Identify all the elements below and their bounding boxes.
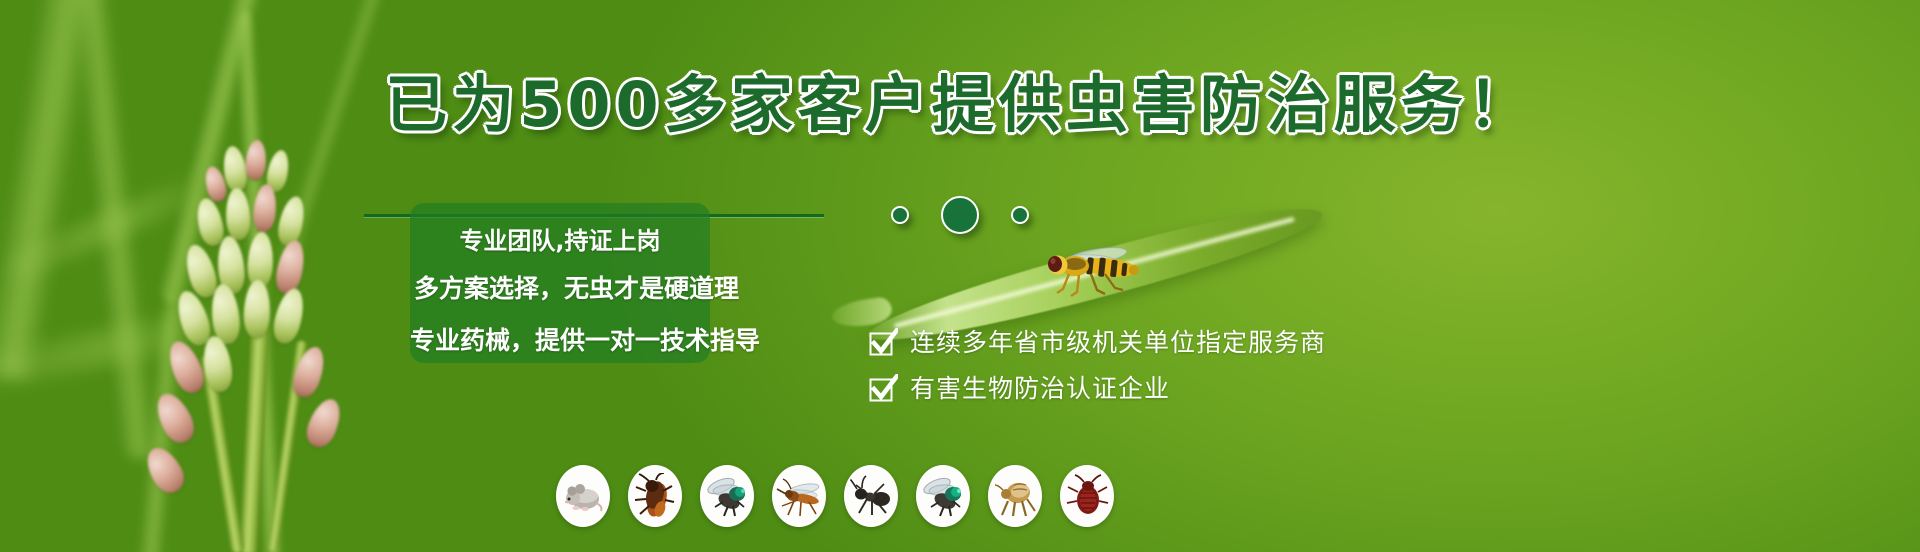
pest-icon-ant[interactable] bbox=[844, 465, 898, 527]
pest-icon-mouse[interactable] bbox=[556, 465, 610, 527]
mosquito-icon bbox=[776, 473, 822, 519]
decorative-dot-small-left bbox=[891, 206, 909, 224]
pest-icon-greenbottle-fly[interactable] bbox=[916, 465, 970, 527]
credential-item: 连续多年省市级机关单位指定服务商 bbox=[868, 328, 1326, 358]
cockroach-icon bbox=[632, 473, 678, 519]
bedbug-icon bbox=[1064, 473, 1110, 519]
credentials-list: 连续多年省市级机关单位指定服务商 有害生物防治认证企业 bbox=[868, 328, 1326, 404]
greenbottle-fly-icon bbox=[920, 473, 966, 519]
banner-headline: 已为500多家客户提供虫害防治服务！ bbox=[0, 74, 1920, 136]
selling-point-line-2: 多方案选择，无虫才是硬道理 bbox=[414, 263, 710, 315]
credential-label: 有害生物防治认证企业 bbox=[910, 374, 1170, 404]
hoverfly-image bbox=[1035, 240, 1155, 304]
mouse-icon bbox=[560, 473, 606, 519]
decorative-dot-large-center bbox=[941, 196, 979, 234]
pest-icon-housefly[interactable] bbox=[700, 465, 754, 527]
decorative-dot-small-right bbox=[1011, 206, 1029, 224]
promotional-banner: 已为500多家客户提供虫害防治服务！ 专业团队,持证上岗 多方案选择，无虫才是硬… bbox=[0, 0, 1920, 552]
flea-icon bbox=[992, 473, 1038, 519]
pest-icon-row bbox=[556, 465, 1114, 527]
housefly-icon bbox=[704, 473, 750, 519]
checkbox-checked-icon bbox=[868, 328, 898, 358]
decorative-dots-row bbox=[0, 196, 1920, 234]
pest-icon-mosquito[interactable] bbox=[772, 465, 826, 527]
credential-label: 连续多年省市级机关单位指定服务商 bbox=[910, 328, 1326, 358]
checkbox-checked-icon bbox=[868, 374, 898, 404]
selling-point-line-3: 专业药械，提供一对一技术指导 bbox=[410, 315, 710, 367]
credential-item: 有害生物防治认证企业 bbox=[868, 374, 1326, 404]
selling-points-panel: 专业团队,持证上岗 多方案选择，无虫才是硬道理 专业药械，提供一对一技术指导 bbox=[410, 203, 710, 363]
pest-icon-bedbug[interactable] bbox=[1060, 465, 1114, 527]
pest-icon-cockroach[interactable] bbox=[628, 465, 682, 527]
selling-point-line-1: 专业团队,持证上岗 bbox=[410, 219, 710, 263]
pest-icon-flea[interactable] bbox=[988, 465, 1042, 527]
ant-icon bbox=[848, 473, 894, 519]
